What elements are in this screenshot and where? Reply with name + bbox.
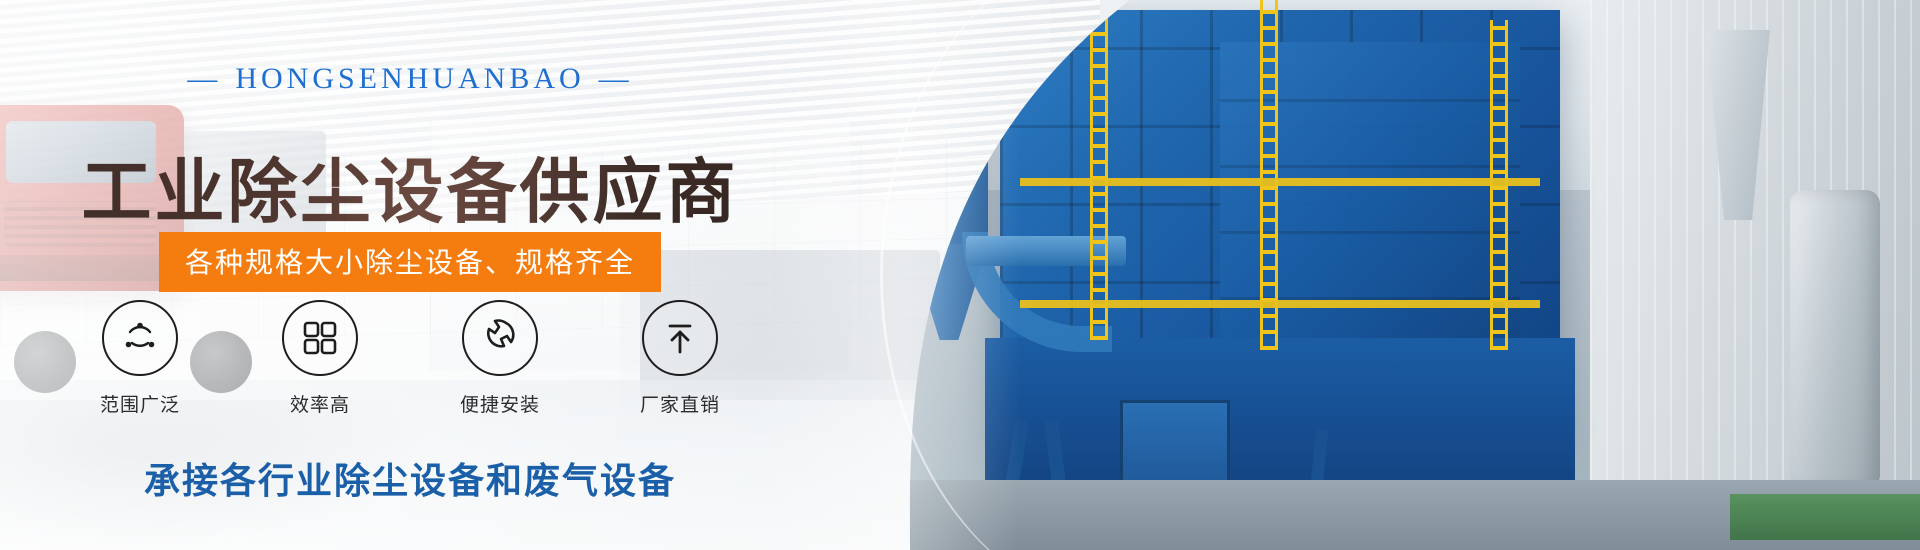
feature-label: 厂家直销 xyxy=(625,390,735,417)
network-nodes-icon xyxy=(102,300,178,376)
yellow-railing xyxy=(1020,300,1540,308)
feature-item-coverage[interactable]: 范围广泛 xyxy=(85,300,195,417)
green-vegetation xyxy=(1730,494,1920,540)
eyebrow-dash-left: — xyxy=(187,62,221,96)
feature-label: 范围广泛 xyxy=(85,390,195,417)
page-title: 工业除尘设备供应商 xyxy=(0,155,820,229)
eyebrow-dash-right: — xyxy=(599,62,633,96)
feature-list: 范围广泛 效率高 xyxy=(0,300,820,417)
eyebrow-text: HONGSENHUANBAO xyxy=(235,62,584,95)
duct-column xyxy=(1790,190,1880,490)
feature-item-efficiency[interactable]: 效率高 xyxy=(265,300,375,417)
yellow-ladder xyxy=(1090,0,1108,340)
hero-banner: —HONGSENHUANBAO— 工业除尘设备供应商 各种规格大小除尘设备、规格… xyxy=(0,0,1920,550)
feature-label: 效率高 xyxy=(265,390,375,417)
feature-item-factory-direct[interactable]: 厂家直销 xyxy=(625,300,735,417)
yellow-ladder xyxy=(1260,0,1278,350)
tagline: 承接各行业除尘设备和废气设备 xyxy=(0,452,820,504)
wrench-icon xyxy=(462,300,538,376)
brand-eyebrow: —HONGSENHUANBAO— xyxy=(0,62,820,96)
feature-item-installation[interactable]: 便捷安装 xyxy=(445,300,555,417)
grid-squares-icon xyxy=(282,300,358,376)
subtitle-badge: 各种规格大小除尘设备、规格齐全 xyxy=(159,232,661,292)
banner-content: —HONGSENHUANBAO— 工业除尘设备供应商 各种规格大小除尘设备、规格… xyxy=(0,0,860,550)
feature-label: 便捷安装 xyxy=(445,390,555,417)
arrow-up-to-line-icon xyxy=(642,300,718,376)
yellow-railing xyxy=(1020,178,1540,186)
badge-container: 各种规格大小除尘设备、规格齐全 xyxy=(0,232,820,292)
